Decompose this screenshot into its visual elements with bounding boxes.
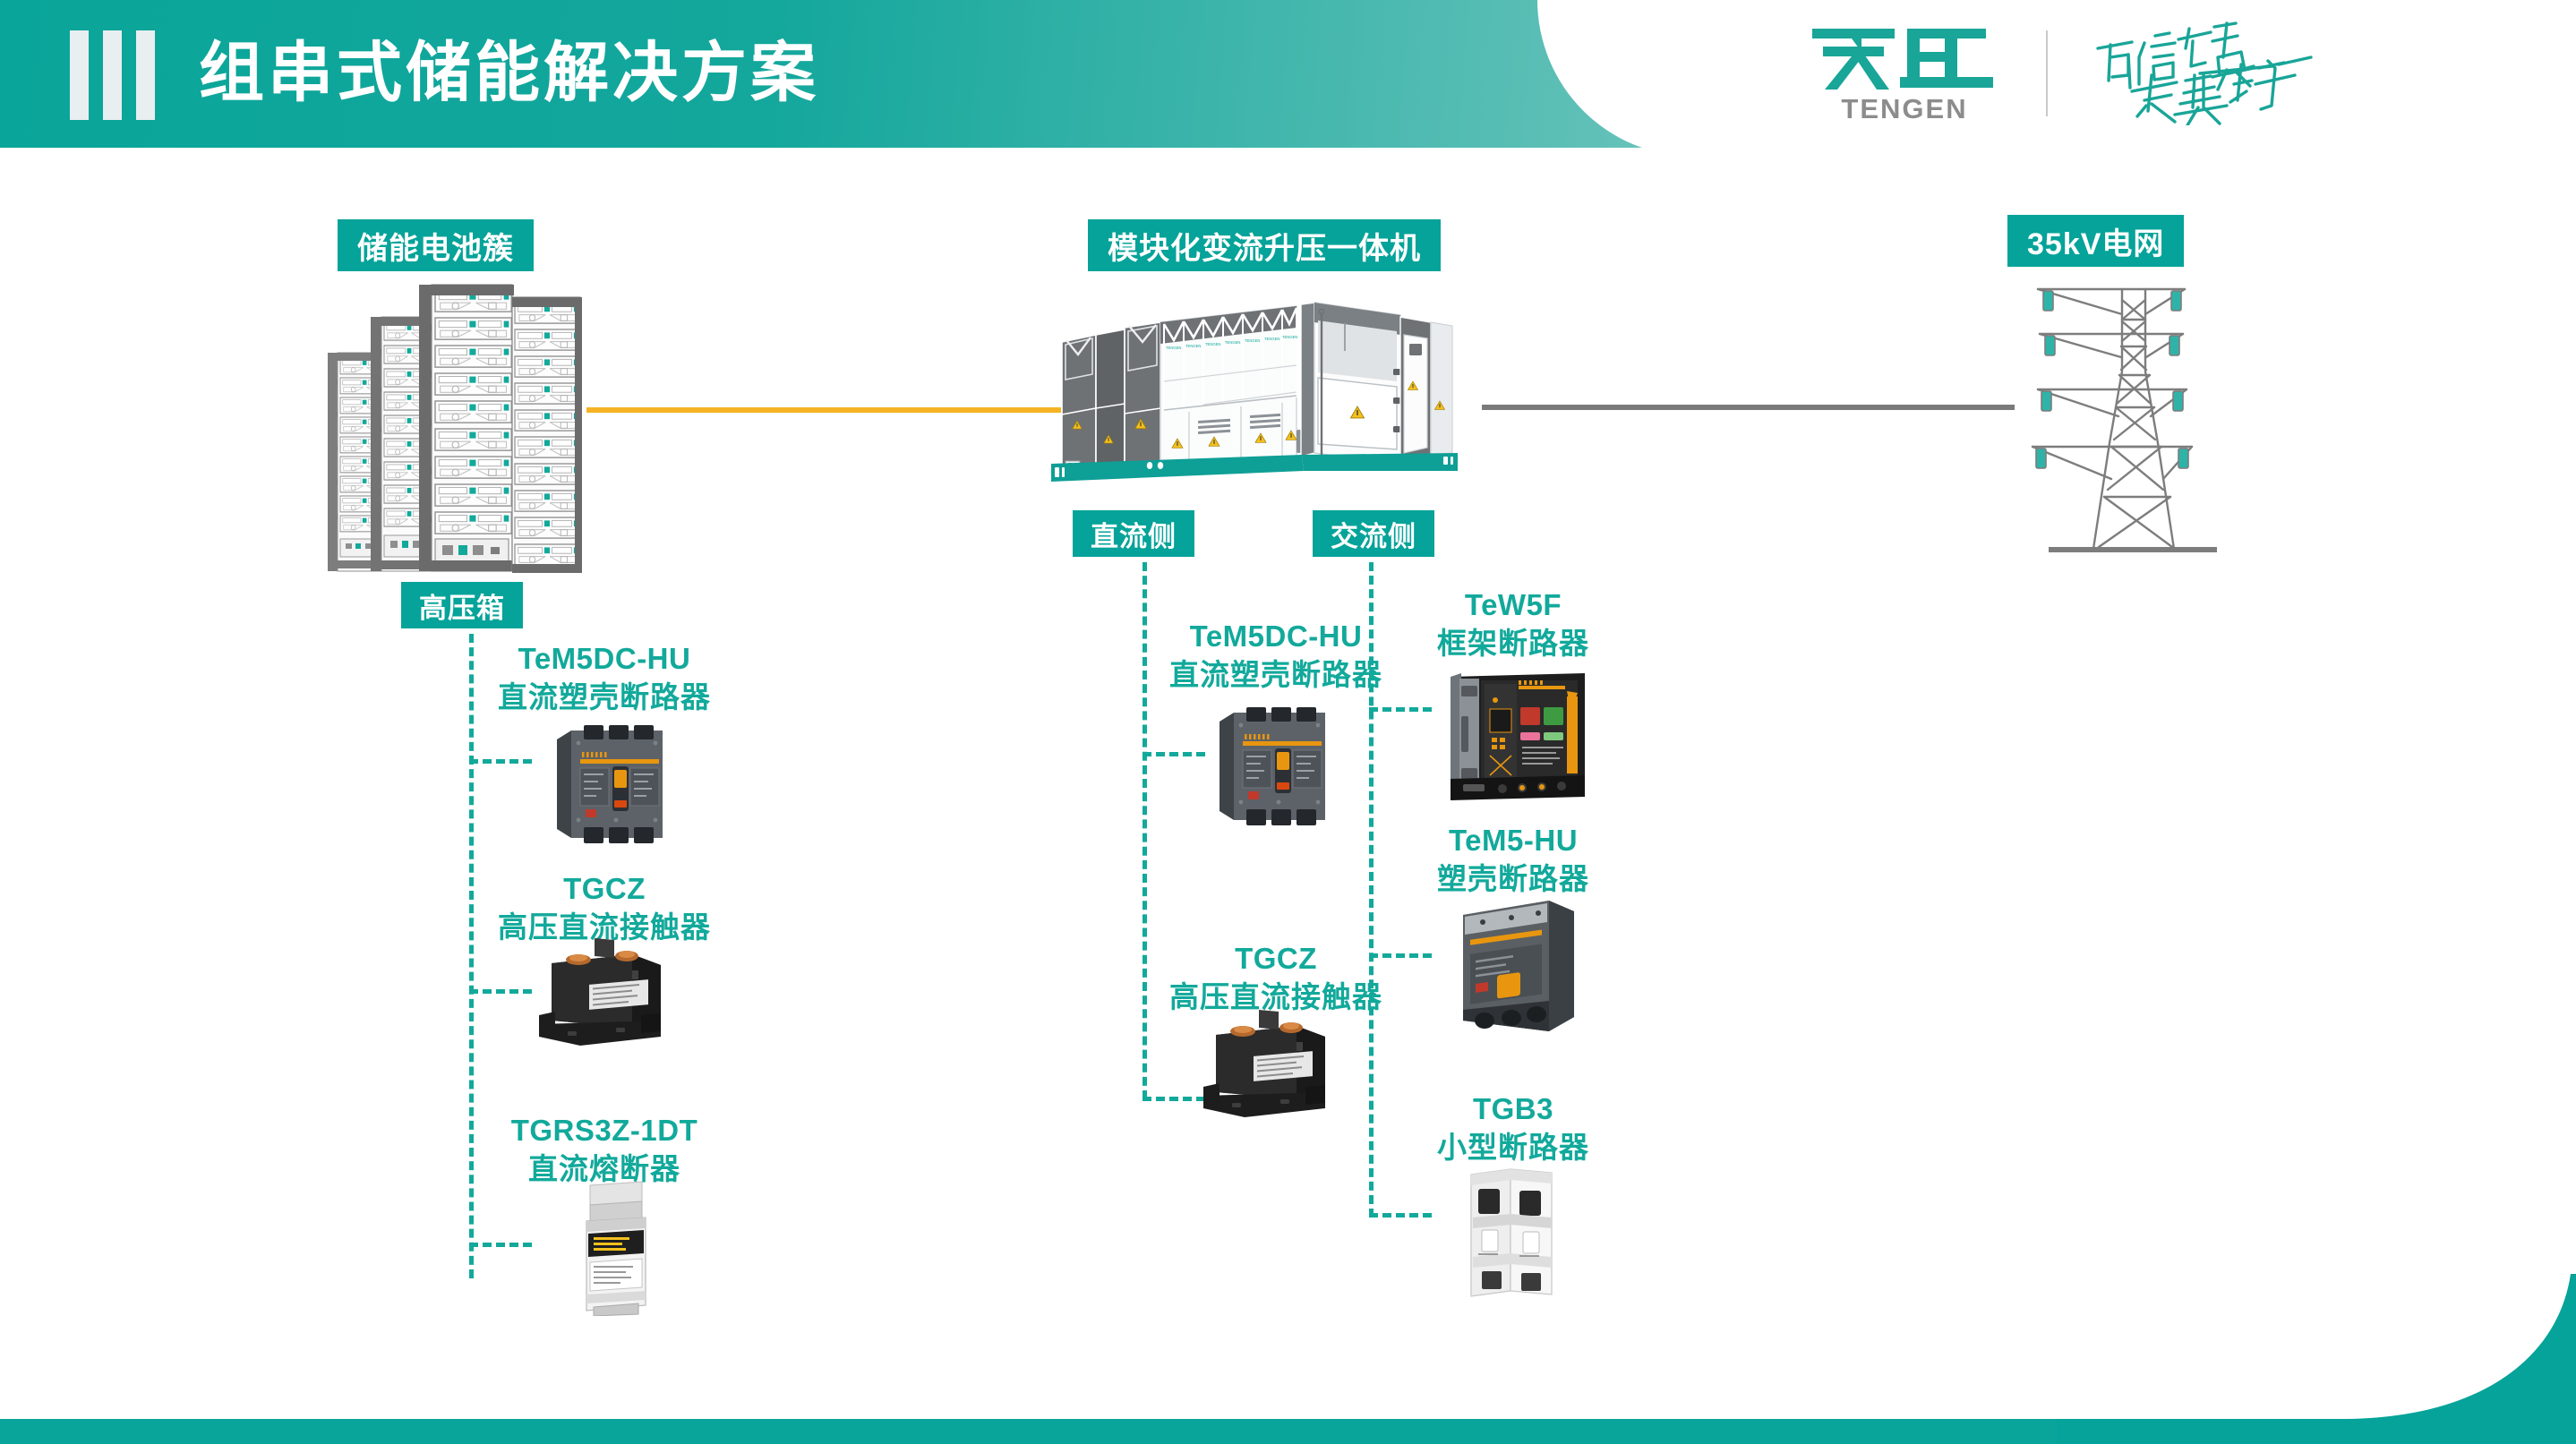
section-label-battery-cluster: 储能电池簇: [338, 219, 534, 271]
connector-ac-branch-1: [1369, 707, 1432, 712]
transmission-tower-image: [1997, 264, 2229, 560]
fuse-icon: [560, 1180, 667, 1316]
battery-rack-image: [322, 278, 591, 573]
contactor-icon: [526, 938, 679, 1047]
slide-canvas: 组串式储能解决方案 TENGEN: [0, 0, 2576, 1444]
svg-text:TENGEN: TENGEN: [1264, 337, 1279, 341]
tengen-logo-mark-icon: [1810, 21, 1998, 93]
product-label-ac-3: TGB3 小型断路器: [1370, 1090, 1656, 1167]
connector-dc-branch-1: [1143, 752, 1205, 756]
page-header: 组串式储能解决方案 TENGEN: [0, 0, 2576, 148]
sublabel-dc-side: 直流侧: [1073, 510, 1194, 557]
product-code: TGCZ: [1133, 940, 1419, 978]
mccb-dc-icon: [1207, 705, 1350, 827]
connector-hv-branch-3: [469, 1243, 532, 1247]
svg-text:TENGEN: TENGEN: [1282, 335, 1297, 339]
connector-hv-branch-2: [469, 989, 532, 994]
connector-ac-branch-2: [1369, 953, 1432, 958]
three-bars-icon: [70, 30, 155, 120]
svg-text:TENGEN: TENGEN: [1225, 340, 1240, 345]
pcs-container-image: TENGENTENGEN TENGENTENGEN TENGENTENGEN T…: [1039, 295, 1468, 501]
brand-logo: TENGEN: [1810, 18, 2348, 130]
logo-divider: [2046, 30, 2048, 116]
sublabel-ac-side: 交流侧: [1313, 510, 1434, 557]
svg-text:TENGEN: TENGEN: [1185, 344, 1201, 348]
ac-bus-line: [1482, 405, 2015, 410]
product-label-hv-3: TGRS3Z-1DT 直流熔断器: [466, 1112, 743, 1189]
product-code: TeW5F: [1370, 586, 1656, 624]
product-desc: 塑壳断路器: [1370, 859, 1656, 899]
brand-name-en: TENGEN: [1810, 93, 1998, 125]
mccb-ac-icon: [1443, 895, 1587, 1038]
product-label-hv-2: TGCZ 高压直流接触器: [466, 870, 743, 947]
sublabel-high-voltage-box: 高压箱: [401, 582, 523, 628]
product-desc: 框架断路器: [1370, 624, 1656, 663]
product-code: TeM5DC-HU: [466, 640, 743, 678]
product-desc: 小型断路器: [1370, 1128, 1656, 1167]
page-title: 组串式储能解决方案: [199, 23, 819, 124]
product-code: TGB3: [1370, 1090, 1656, 1128]
product-code: TGCZ: [466, 870, 743, 908]
footer-corner-decoration: [2057, 1274, 2576, 1444]
svg-text:TENGEN: TENGEN: [1205, 342, 1220, 346]
mccb-dc-icon: [544, 723, 688, 845]
acb-icon: [1433, 670, 1603, 802]
section-label-grid: 35kV电网: [2007, 215, 2184, 267]
brand-slogan-calligraphy-icon: [2092, 18, 2325, 125]
svg-text:TENGEN: TENGEN: [1166, 346, 1181, 350]
product-code: TGRS3Z-1DT: [466, 1112, 743, 1149]
product-label-dc-2: TGCZ 高压直流接触器: [1133, 940, 1419, 1017]
mcb-icon: [1455, 1164, 1571, 1298]
product-label-ac-1: TeW5F 框架断路器: [1370, 586, 1656, 663]
connector-ac-branch-3: [1369, 1213, 1432, 1218]
product-code: TeM5-HU: [1370, 822, 1656, 859]
connector-hv-branch-1: [469, 759, 532, 764]
section-label-pcs-container: 模块化变流升压一体机: [1088, 219, 1441, 271]
svg-text:TENGEN: TENGEN: [1245, 338, 1260, 343]
product-desc: 直流塑壳断路器: [466, 678, 743, 717]
product-label-hv-1: TeM5DC-HU 直流塑壳断路器: [466, 640, 743, 717]
product-label-ac-2: TeM5-HU 塑壳断路器: [1370, 822, 1656, 899]
dc-bus-line: [586, 407, 1061, 413]
contactor-icon: [1191, 1010, 1343, 1119]
